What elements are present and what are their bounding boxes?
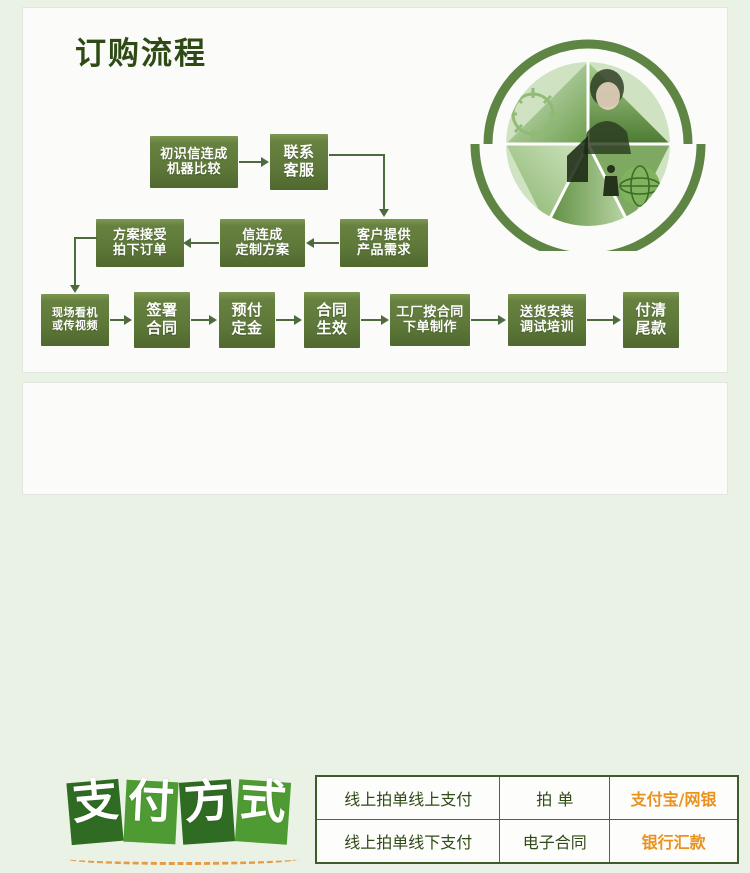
flow-box-11[interactable]: 送货安装 调试培训 (508, 294, 586, 346)
cell-channel: 支付宝/网银 (610, 776, 738, 820)
flow-box-3[interactable]: 方案接受 拍下订单 (96, 219, 184, 267)
logo-char-4: 式 (235, 776, 290, 826)
flow-box-5[interactable]: 客户提供 产品需求 (340, 219, 428, 267)
table-row: 线上拍单线下支付 电子合同 银行汇款 (316, 820, 738, 864)
flow-box-line: 客户提供 (357, 228, 411, 243)
order-process-page: 订购流程 (0, 0, 750, 503)
flow-box-line: 付清 (635, 302, 666, 320)
table-row: 线上拍单线上支付 拍 单 支付宝/网银 (316, 776, 738, 820)
flow-box-line: 工厂按合同 (396, 305, 464, 320)
flow-box-line: 下单制作 (403, 320, 457, 335)
payment-method-logo: 支 付 方 式 (63, 773, 303, 873)
flow-box-line: 预付 (231, 302, 262, 320)
flow-box-6[interactable]: 现场看机 或传视频 (41, 294, 109, 346)
flow-box-line: 联系 (283, 144, 314, 162)
cell-channel: 银行汇款 (610, 820, 738, 864)
flow-box-line: 生效 (316, 320, 347, 338)
flow-box-8[interactable]: 预付 定金 (219, 292, 275, 348)
flow-box-line: 合同 (316, 302, 347, 320)
logo-char-3: 方 (179, 776, 234, 826)
order-flow-panel: 订购流程 (22, 7, 728, 373)
page-title: 订购流程 (75, 28, 207, 73)
logo-char-2: 付 (124, 777, 178, 826)
flow-box-line: 合同 (146, 320, 177, 338)
flow-box-line: 产品需求 (357, 243, 411, 258)
cell-method: 线上拍单线上支付 (316, 776, 500, 820)
flow-box-line: 拍下订单 (113, 243, 167, 258)
dashed-underline (67, 853, 299, 865)
payment-method-table: 线上拍单线上支付 拍 单 支付宝/网银 线上拍单线下支付 电子合同 银行汇款 (315, 775, 739, 864)
flow-box-line: 客服 (283, 162, 314, 180)
flow-box-1[interactable]: 初识信连成 机器比较 (150, 136, 238, 188)
flow-box-10[interactable]: 工厂按合同 下单制作 (390, 294, 470, 346)
flow-box-9[interactable]: 合同 生效 (304, 292, 360, 348)
flow-box-line: 机器比较 (167, 162, 221, 177)
cell-method: 线上拍单线下支付 (316, 820, 500, 864)
flow-box-line: 定金 (231, 320, 262, 338)
flow-box-line: 送货安装 (520, 305, 574, 320)
logo-char-1: 支 (67, 776, 123, 826)
flow-box-line: 方案接受 (113, 228, 167, 243)
flow-box-line: 定制方案 (235, 243, 289, 258)
flow-box-line: 调试培训 (520, 320, 574, 335)
cell-doc: 电子合同 (500, 820, 610, 864)
flow-box-line: 初识信连成 (160, 147, 228, 162)
flow-box-line: 签署 (146, 302, 177, 320)
payment-method-panel: 支 付 方 式 线上拍单线上支付 拍 单 支付宝/网银 线上拍单线下支付 电子合… (22, 382, 728, 495)
flow-box-line: 或传视频 (52, 320, 98, 333)
flow-box-7[interactable]: 签署 合同 (134, 292, 190, 348)
flow-box-line: 信连成 (242, 228, 283, 243)
flow-box-4[interactable]: 信连成 定制方案 (220, 219, 305, 267)
flow-box-line: 尾款 (635, 320, 666, 338)
flow-box-12[interactable]: 付清 尾款 (623, 292, 679, 348)
business-collage-icon (455, 36, 725, 251)
cell-doc: 拍 单 (500, 776, 610, 820)
flow-box-2[interactable]: 联系 客服 (270, 134, 328, 190)
